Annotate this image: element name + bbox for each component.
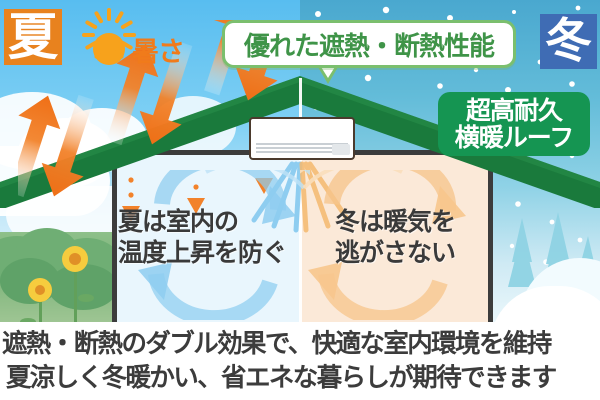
caption-summer-line2: 温度上昇を防ぐ (118, 237, 286, 268)
product-label-line1: 超高耐久 (466, 97, 562, 124)
caption-winter-line1: 冬は暖気を (335, 206, 455, 237)
caption-winter: 冬は暖気を 逃がさない (335, 206, 455, 268)
air-conditioner (249, 117, 355, 160)
bottom-line-1: 遮熱・断熱のダブル効果で、快適な室内環境を維持 (0, 327, 600, 361)
speech-bubble-text: 優れた遮熱・断熱性能 (244, 26, 494, 63)
caption-winter-line2: 逃がさない (335, 237, 455, 268)
bottom-summary: 遮熱・断熱のダブル効果で、快適な室内環境を維持 夏涼しく冬暖かい、省エネな暮らし… (0, 322, 600, 400)
season-badge-winter: 冬 (540, 14, 597, 69)
illustration-scene: 夏は室内の 温度上昇を防ぐ 冬は暖気を 逃がさない 暑さ 夏 冬 (0, 0, 600, 322)
product-label-line2: 横暖ルーフ (455, 124, 574, 151)
product-label: 超高耐久 横暖ルーフ (438, 92, 590, 156)
bottom-line-2: 夏涼しく冬暖かい、省エネな暮らしが期待できます (0, 361, 600, 395)
infographic-root: 夏は室内の 温度上昇を防ぐ 冬は暖気を 逃がさない 暑さ 夏 冬 (0, 0, 600, 400)
heat-label: 暑さ (132, 30, 184, 69)
season-badge-summer: 夏 (4, 9, 62, 65)
sun-icon (80, 20, 138, 78)
speech-bubble: 優れた遮熱・断熱性能 (222, 20, 516, 68)
caption-summer-line1: 夏は室内の (118, 206, 286, 237)
caption-summer: 夏は室内の 温度上昇を防ぐ (118, 206, 286, 268)
